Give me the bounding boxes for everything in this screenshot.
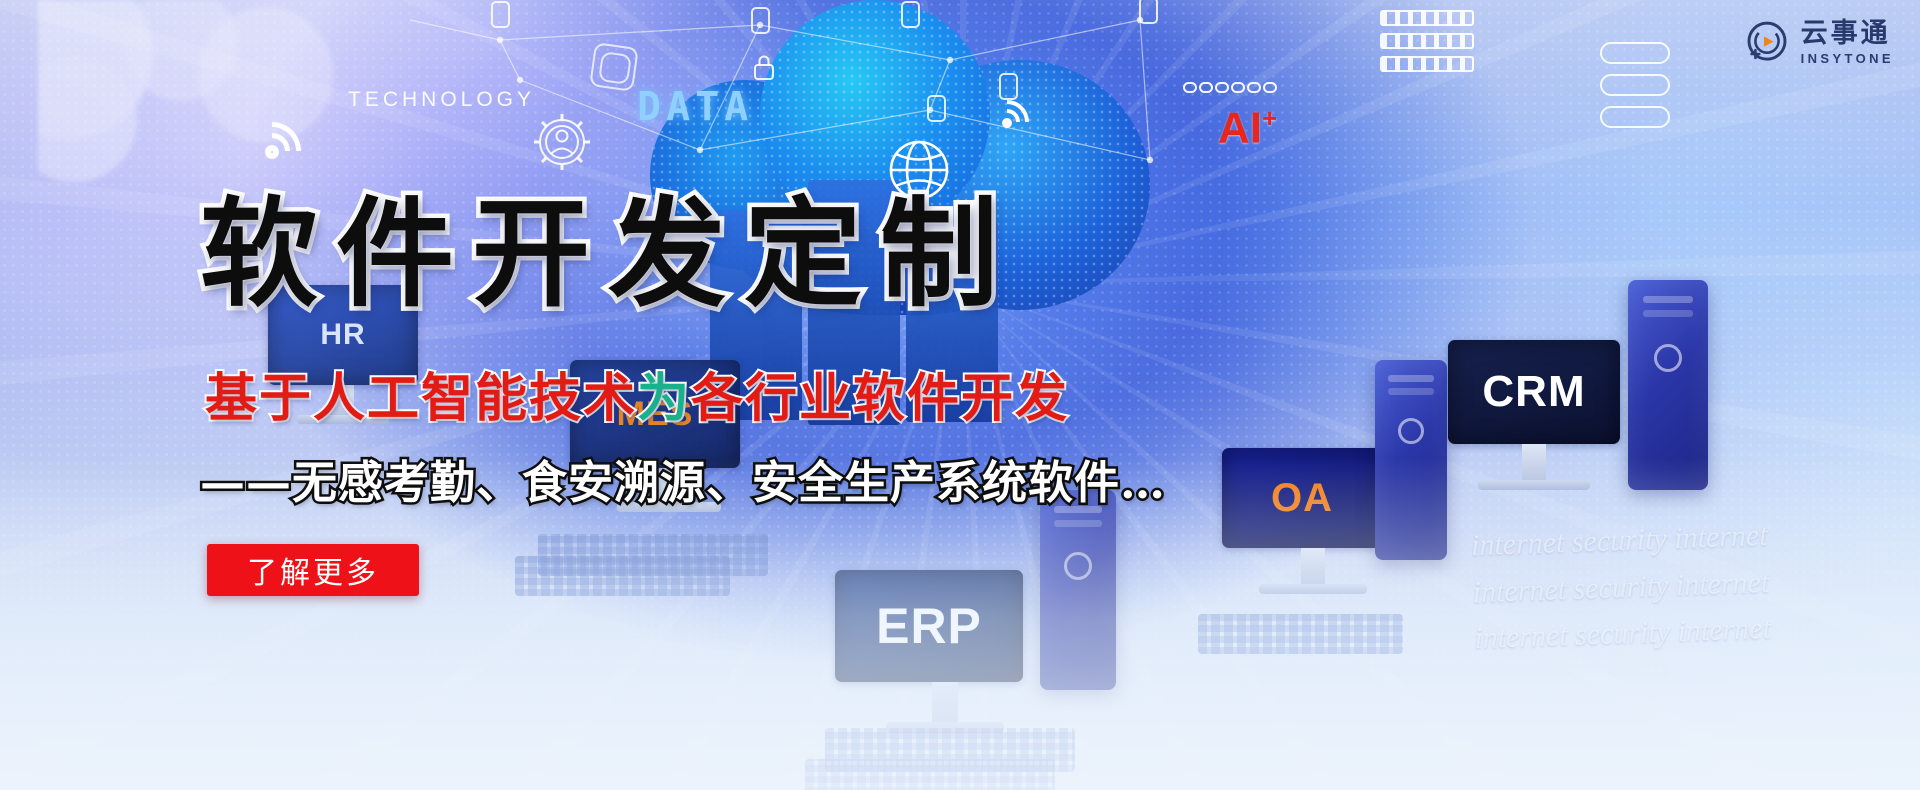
hero-banner: TECHNOLOGY DATA AI+ HR MES ERP [0,0,1920,790]
brand-name-cn: 云事通 [1801,20,1894,47]
subtitle-part-1: 基于人工智能技术 [205,368,637,429]
subtitle-part-2: 为 [637,368,691,429]
play-in-circle-icon [1743,18,1791,66]
brand-logo[interactable]: 云事通 INSYTONE [1743,18,1894,66]
brand-logo-text: 云事通 INSYTONE [1801,20,1894,65]
page-title: 软件开发定制 [200,195,1016,313]
hero-subtitle: 基于人工智能技术为各行业软件开发 [205,373,1069,425]
brand-name-en: INSYTONE [1801,52,1894,65]
subtitle-part-3: 各行业软件开发 [691,368,1069,429]
hero-tagline: ——无感考勤、食安溯源、安全生产系统软件… [200,460,1166,505]
learn-more-button[interactable]: 了解更多 [207,544,419,596]
hero-copy: 软件开发定制 基于人工智能技术为各行业软件开发 ——无感考勤、食安溯源、安全生产… [0,0,1920,790]
